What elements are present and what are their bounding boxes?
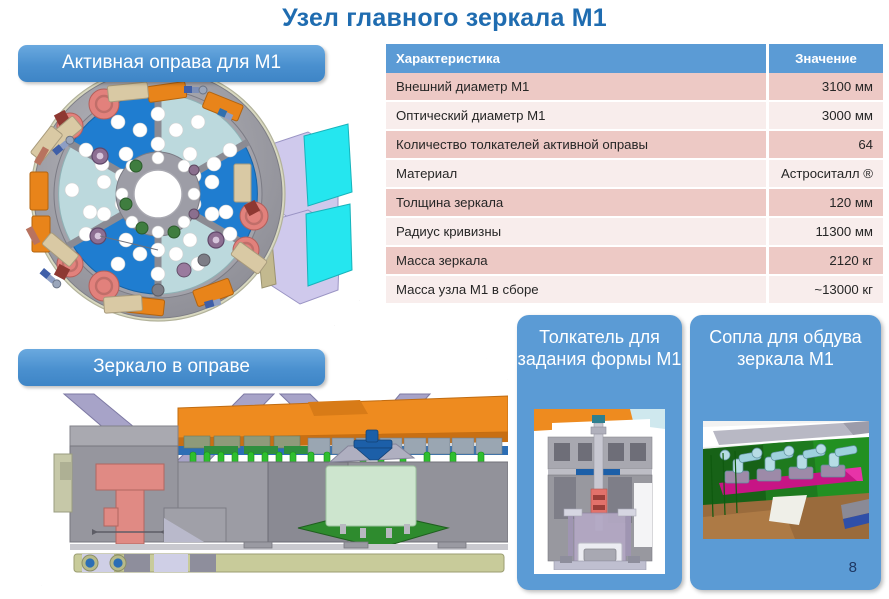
panel-nozzles: Сопла для обдува зеркала М1 (690, 315, 881, 590)
caption-mirror-in-cell-label: Зеркало в оправе (93, 356, 250, 378)
slide-root: Узел главного зеркала М1 (0, 0, 889, 599)
figure-mirror-in-cell-frame (8, 358, 508, 586)
panel-nozzles-title: Сопла для обдува зеркала М1 (690, 315, 881, 370)
caption-mirror-in-cell: Зеркало в оправе (18, 349, 325, 386)
table-header-row: Характеристика Значение (386, 44, 883, 73)
header-value: Значение (768, 44, 884, 73)
figure-active-cell-frame (8, 54, 360, 326)
table-row: Внешний диаметр М13100 мм (386, 73, 883, 101)
cell-value: 64 (768, 130, 884, 159)
cell-value: Астроситалл ® (768, 159, 884, 188)
cad-mirror-cell-top-view (8, 54, 360, 326)
cad-air-blow-nozzles-render (703, 421, 869, 539)
panel-pusher: Толкатель для задания формы М1 (517, 315, 682, 590)
cad-pusher-cross-section (534, 409, 665, 574)
figure-nozzles-photo (703, 421, 869, 539)
page-title: Узел главного зеркала М1 (0, 4, 889, 33)
page-number: 8 (849, 559, 857, 576)
table-row: Оптический диаметр М13000 мм (386, 101, 883, 130)
header-characteristic: Характеристика (386, 44, 768, 73)
table-row: Количество толкателей активной оправы64 (386, 130, 883, 159)
panel-pusher-title: Толкатель для задания формы М1 (517, 315, 682, 370)
caption-active-cell: Активная оправа для М1 (18, 45, 325, 82)
caption-active-cell-label: Активная оправа для М1 (62, 52, 281, 74)
central-hole (134, 170, 182, 218)
specs-table: Характеристика Значение Внешний диаметр … (386, 44, 883, 305)
cell-name: Радиус кривизны (386, 217, 768, 246)
table-row: Масса зеркала2120 кг (386, 246, 883, 275)
table-row: Толщина зеркала120 мм (386, 188, 883, 217)
cell-name: Толщина зеркала (386, 188, 768, 217)
cell-name: Материал (386, 159, 768, 188)
cad-mirror-assembly-side-view (8, 358, 508, 586)
cell-name: Количество толкателей активной оправы (386, 130, 768, 159)
cell-name: Оптический диаметр М1 (386, 101, 768, 130)
baffle-wedge (164, 508, 226, 542)
cell-value: ~13000 кг (768, 275, 884, 304)
cell-name: Масса узла М1 в сборе (386, 275, 768, 304)
table-row: Радиус кривизны11300 мм (386, 217, 883, 246)
cell-value: 120 мм (768, 188, 884, 217)
cell-value: 11300 мм (768, 217, 884, 246)
cell-value: 3000 мм (768, 101, 884, 130)
cell-value: 2120 кг (768, 246, 884, 275)
cell-value: 3100 мм (768, 73, 884, 101)
cell-name: Масса зеркала (386, 246, 768, 275)
figure-pusher-photo (534, 409, 665, 574)
table-row: МатериалАстроситалл ® (386, 159, 883, 188)
cell-name: Внешний диаметр М1 (386, 73, 768, 101)
table-row: Масса узла М1 в сборе~13000 кг (386, 275, 883, 304)
